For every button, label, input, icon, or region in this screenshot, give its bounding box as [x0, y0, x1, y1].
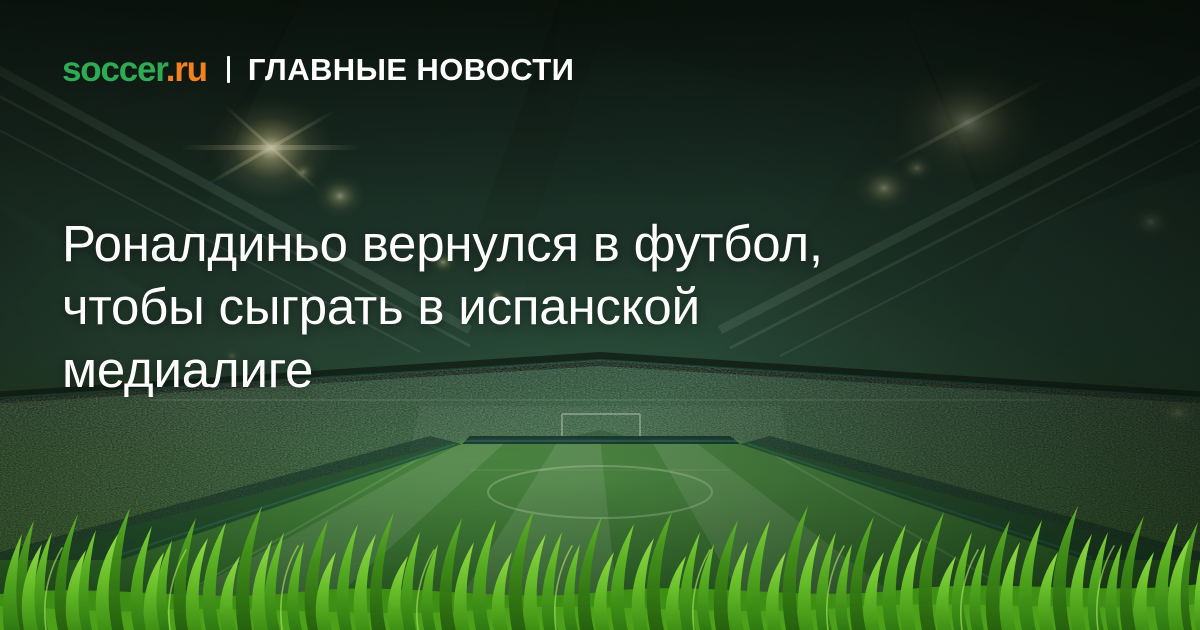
header-kicker: ГЛАВНЫЕ НОВОСТИ: [248, 54, 574, 85]
headline-line-2: чтобы сыграть в испанской: [62, 275, 1062, 338]
site-logo[interactable]: soccer.ru: [62, 52, 207, 87]
brand-header: soccer.ru ГЛАВНЫЕ НОВОСТИ: [62, 52, 574, 87]
header-divider: [227, 56, 230, 83]
share-card: soccer.ru ГЛАВНЫЕ НОВОСТИ Роналдиньо вер…: [0, 0, 1200, 630]
logo-tld: .ru: [166, 50, 207, 89]
logo-word: soccer: [62, 50, 166, 89]
headline-line-1: Роналдиньо вернулся в футбол,: [62, 212, 1062, 275]
headline-line-3: медиалиге: [62, 338, 1062, 401]
headline: Роналдиньо вернулся в футбол, чтобы сыгр…: [62, 212, 1062, 401]
